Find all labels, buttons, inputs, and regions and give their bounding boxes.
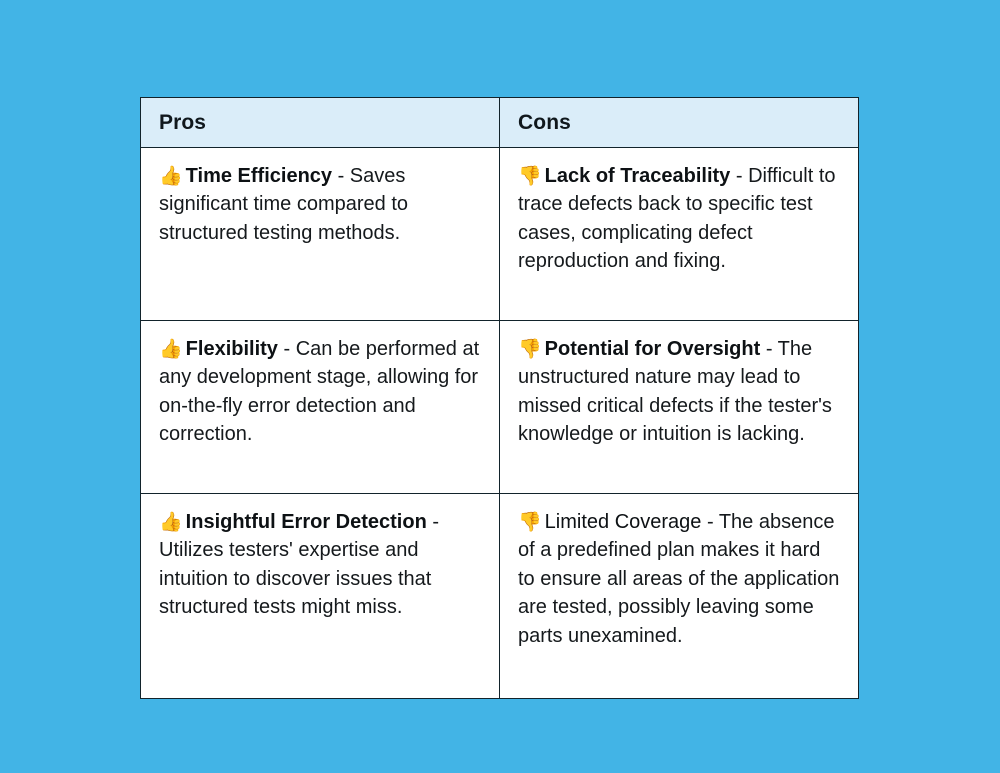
cell-title: Limited Coverage <box>545 511 702 533</box>
cell-pros: 👍Insightful Error Detection - Utilizes t… <box>141 494 500 699</box>
cell-cons: 👎Potential for Oversight - The unstructu… <box>500 321 859 494</box>
cell-cons: 👎Limited Coverage - The absence of a pre… <box>500 494 859 699</box>
table-header-row: Pros Cons <box>141 98 859 148</box>
thumbs-down-icon: 👎 <box>518 165 542 187</box>
thumbs-up-icon: 👍 <box>159 165 183 187</box>
cell-title: Lack of Traceability <box>545 165 731 187</box>
cell-cons: 👎Lack of Traceability - Difficult to tra… <box>500 148 859 321</box>
thumbs-down-icon: 👎 <box>518 338 542 360</box>
column-header-pros: Pros <box>141 98 500 148</box>
cell-title: Potential for Oversight <box>545 338 761 360</box>
thumbs-down-icon: 👎 <box>518 511 542 533</box>
thumbs-up-icon: 👍 <box>159 338 183 360</box>
table-row: 👍Time Efficiency - Saves significant tim… <box>141 148 859 321</box>
thumbs-up-icon: 👍 <box>159 511 183 533</box>
cell-pros: 👍Time Efficiency - Saves significant tim… <box>141 148 500 321</box>
page-canvas: Pros Cons 👍Time Efficiency - Saves signi… <box>0 0 1000 773</box>
column-header-cons: Cons <box>500 98 859 148</box>
cell-title: Insightful Error Detection <box>186 511 427 533</box>
table-header: Pros Cons <box>141 98 859 148</box>
cell-pros: 👍Flexibility - Can be performed at any d… <box>141 321 500 494</box>
cell-title: Time Efficiency <box>186 165 332 187</box>
table-row: 👍Insightful Error Detection - Utilizes t… <box>141 494 859 699</box>
cell-title: Flexibility <box>186 338 278 360</box>
table-body: 👍Time Efficiency - Saves significant tim… <box>141 148 859 699</box>
table-row: 👍Flexibility - Can be performed at any d… <box>141 321 859 494</box>
pros-cons-table: Pros Cons 👍Time Efficiency - Saves signi… <box>140 97 859 699</box>
